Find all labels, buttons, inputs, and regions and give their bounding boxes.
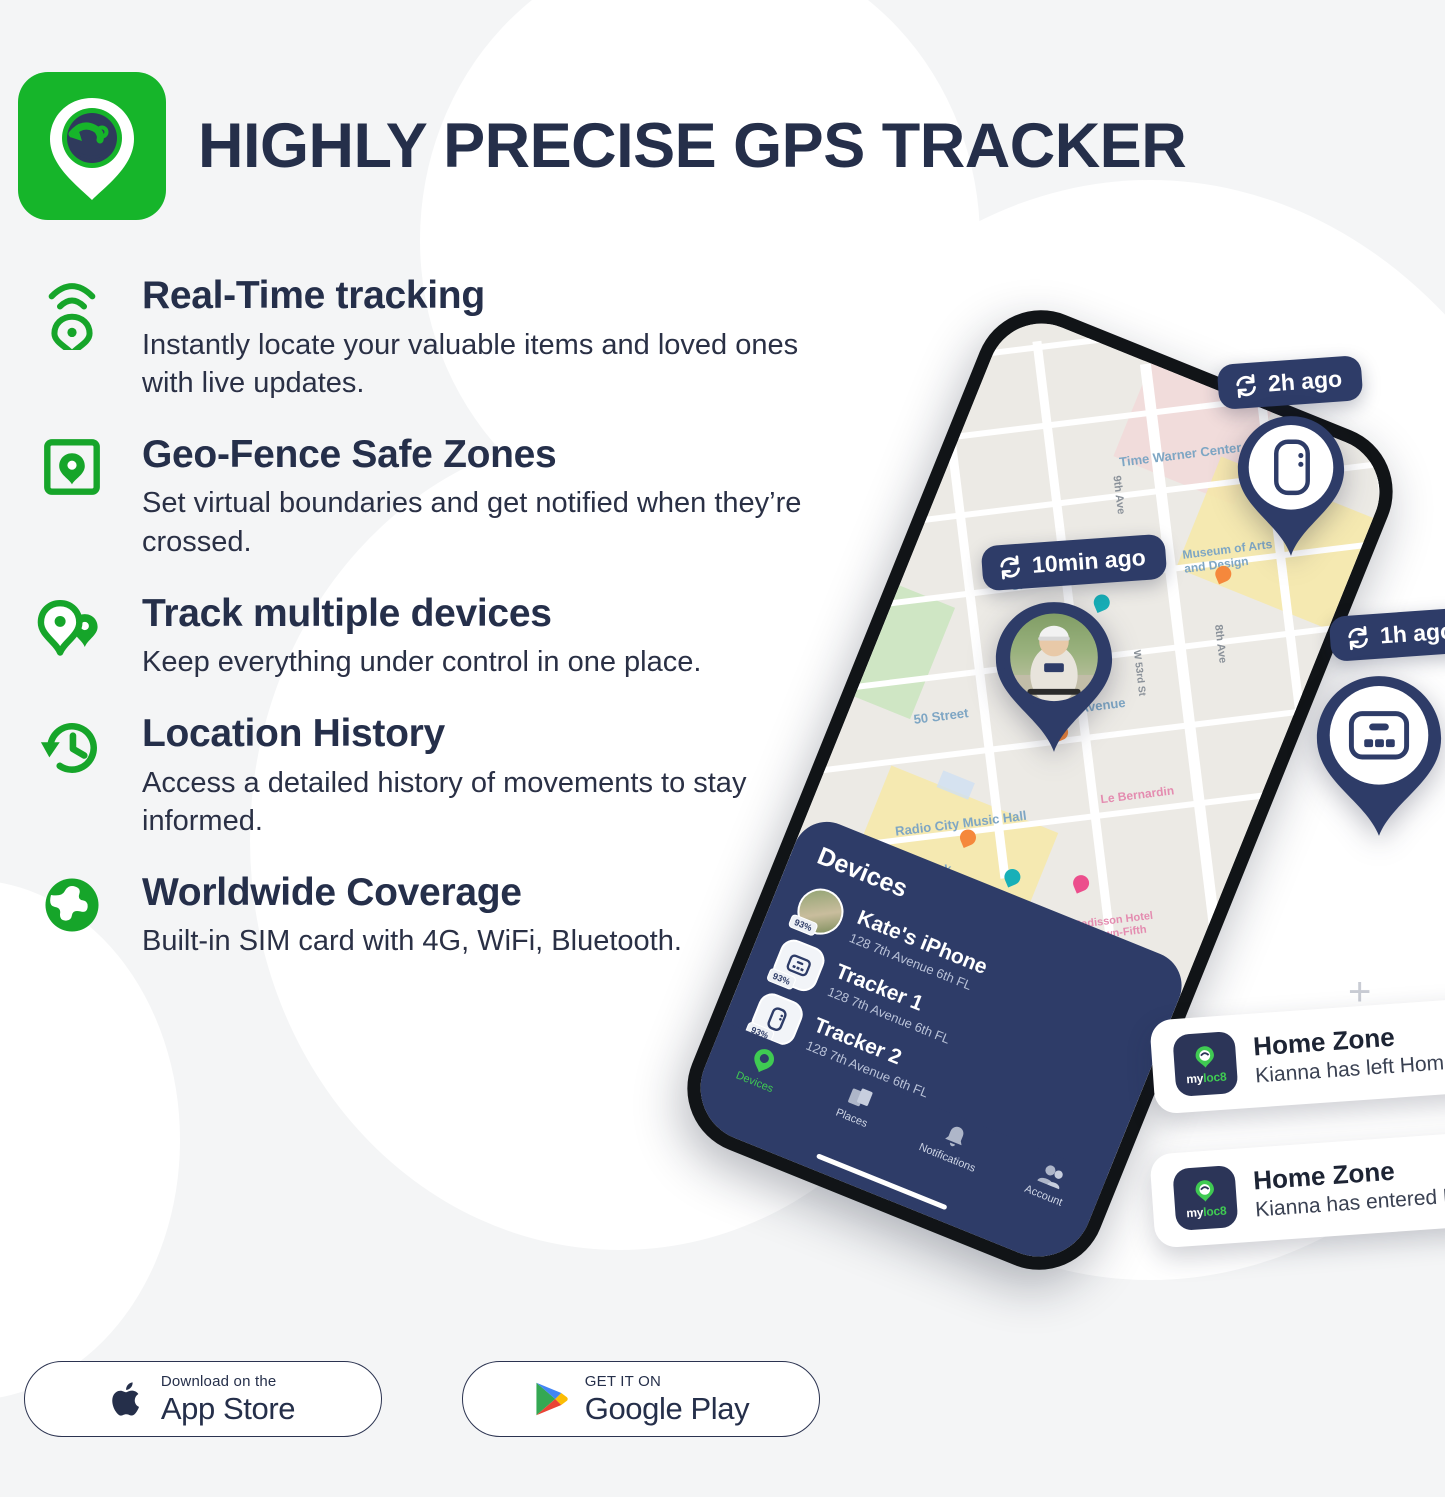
time-chip-label: 2h ago: [1267, 365, 1343, 397]
google-play-button[interactable]: GET IT ON Google Play: [462, 1361, 820, 1437]
feature-desc: Access a detailed history of movements t…: [142, 764, 832, 841]
map-label: 9th Ave: [1110, 475, 1127, 515]
google-play-small-label: GET IT ON: [585, 1374, 749, 1389]
feature-desc: Instantly locate your valuable items and…: [142, 326, 832, 403]
double-pin-icon: [28, 590, 116, 662]
feature-item: Location History Access a detailed histo…: [28, 710, 848, 841]
myloc8-app-icon: myloc8: [1172, 1031, 1238, 1097]
pin-in-square-geofence-icon: [28, 431, 116, 503]
app-store-small-label: Download on the: [161, 1374, 295, 1389]
time-chip-label: 10min ago: [1031, 544, 1146, 579]
feature-item: Track multiple devices Keep everything u…: [28, 590, 848, 682]
map-label: 8th Ave: [1212, 624, 1229, 664]
map-label: Le Bernardin: [1100, 783, 1175, 806]
sync-refresh-icon: [997, 554, 1023, 580]
time-chip-label: 1h ago: [1379, 617, 1445, 649]
tracker-tag-pin[interactable]: [1232, 412, 1350, 565]
time-chip-2h[interactable]: 2h ago: [1217, 355, 1364, 410]
app-store-button[interactable]: Download on the App Store: [24, 1361, 382, 1437]
bell-icon: [940, 1121, 971, 1153]
feature-item: Worldwide Coverage Built-in SIM card wit…: [28, 869, 848, 961]
app-brand-label: myloc8: [1186, 1069, 1227, 1086]
sync-refresh-icon: [1345, 625, 1371, 651]
feature-title: Geo-Fence Safe Zones: [142, 433, 848, 477]
time-chip-1h[interactable]: 1h ago: [1329, 607, 1445, 662]
app-store-big-label: App Store: [161, 1393, 295, 1424]
map-poi-marker[interactable]: [1069, 873, 1091, 898]
google-play-logo-icon: [533, 1379, 569, 1419]
feature-title: Real-Time tracking: [142, 274, 848, 318]
google-play-big-label: Google Play: [585, 1393, 749, 1424]
gps-pin-globe-icon: [18, 72, 166, 220]
feature-title: Location History: [142, 712, 848, 756]
sync-refresh-icon: [1233, 373, 1259, 399]
pin-signal-waves-icon: [28, 272, 116, 344]
page-title: HIGHLY PRECISE GPS TRACKER: [198, 115, 1186, 178]
app-brand-label: myloc8: [1186, 1203, 1227, 1220]
pin-icon: [747, 1044, 779, 1078]
globe-icon: [28, 869, 116, 941]
feature-title: Track multiple devices: [142, 592, 848, 636]
header: HIGHLY PRECISE GPS TRACKER: [18, 72, 1186, 220]
person-photo-pin[interactable]: [990, 598, 1118, 761]
feature-list: Real-Time tracking Instantly locate your…: [28, 272, 848, 961]
notification-card[interactable]: myloc8 Home Zone Kianna has left Home: [1149, 991, 1445, 1114]
feature-item: Real-Time tracking Instantly locate your…: [28, 272, 848, 403]
places-icon: [844, 1082, 876, 1114]
feature-desc: Built-in SIM card with 4G, WiFi, Bluetoo…: [142, 922, 832, 961]
feature-item: Geo-Fence Safe Zones Set virtual boundar…: [28, 431, 848, 562]
feature-title: Worldwide Coverage: [142, 871, 848, 915]
map-label: 50 Street: [913, 705, 969, 727]
feature-desc: Keep everything under control in one pla…: [142, 643, 832, 682]
home-indicator: [816, 1153, 948, 1210]
notification-card[interactable]: myloc8 Home Zone Kianna has entered H: [1149, 1125, 1445, 1248]
myloc8-app-icon: myloc8: [1172, 1165, 1238, 1231]
map-label: W 53rd St: [1131, 650, 1148, 697]
tracker-device-pin[interactable]: [1310, 672, 1445, 845]
feature-desc: Set virtual boundaries and get notified …: [142, 484, 832, 561]
store-badge-row: Download on the App Store GET IT ON Goog…: [24, 1361, 820, 1437]
clock-history-arrow-icon: [28, 710, 116, 782]
apple-logo-icon: [111, 1379, 145, 1419]
person-icon: [1036, 1160, 1068, 1192]
